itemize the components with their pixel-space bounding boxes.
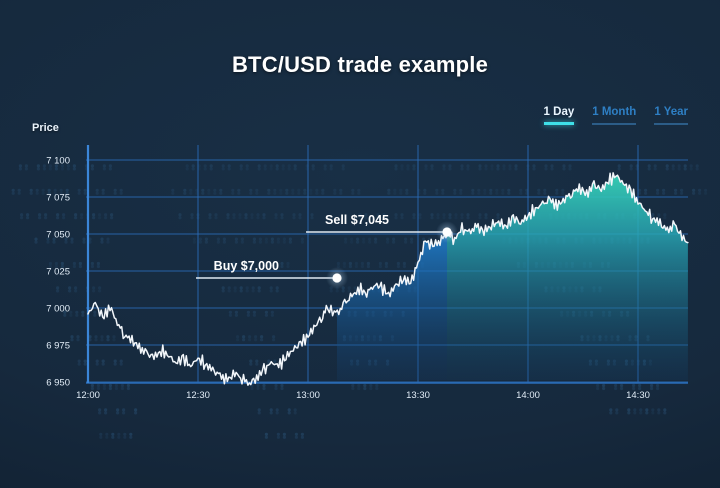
- x-axis-tick-label: 14:00: [516, 390, 540, 401]
- x-axis-tick-label: 13:30: [406, 390, 430, 401]
- y-axis-labels: 7 1007 0757 0507 0257 0006 9756 950: [46, 156, 70, 389]
- x-axis-tick-label: 14:30: [626, 390, 650, 401]
- annotation-buy: Buy $7,000: [196, 259, 348, 289]
- annotation-sell: Sell $7,045: [306, 213, 458, 243]
- y-axis-tick-label: 6 950: [46, 378, 70, 389]
- sell-label: Sell $7,045: [325, 213, 389, 227]
- price-chart[interactable]: 7 1007 0757 0507 0257 0006 9756 950 12:0…: [0, 0, 720, 488]
- x-axis-tick-label: 12:00: [76, 390, 100, 401]
- y-axis-tick-label: 6 975: [46, 341, 70, 352]
- y-axis-tick-label: 7 000: [46, 304, 70, 315]
- y-axis-tick-label: 7 025: [46, 267, 70, 278]
- sell-marker[interactable]: [442, 227, 451, 236]
- chart-screenshot: BTC/USD trade example 1 Day 1 Month 1 Ye…: [0, 0, 720, 488]
- y-axis-tick-label: 7 050: [46, 230, 70, 241]
- buy-label: Buy $7,000: [214, 259, 279, 273]
- x-axis-tick-label: 12:30: [186, 390, 210, 401]
- y-axis-tick-label: 7 100: [46, 156, 70, 167]
- x-axis-tick-label: 13:00: [296, 390, 320, 401]
- x-axis-labels: 12:0012:3013:0013:3014:0014:30: [76, 390, 650, 401]
- buy-marker[interactable]: [332, 273, 341, 282]
- y-axis-tick-label: 7 075: [46, 193, 70, 204]
